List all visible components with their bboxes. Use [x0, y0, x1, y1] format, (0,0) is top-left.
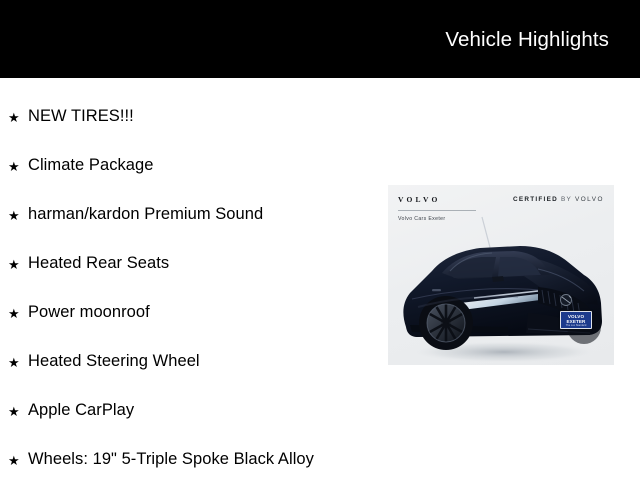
list-item-label: Power moonroof — [28, 303, 150, 323]
star-bullet-icon: ★ — [8, 110, 28, 124]
star-bullet-icon: ★ — [8, 159, 28, 173]
vehicle-photo-card[interactable]: VOLVO Volvo Cars Exeter CERTIFIED BY VOL… — [388, 185, 614, 365]
list-item-label: Heated Rear Seats — [28, 254, 169, 274]
list-item: ★ Apple CarPlay — [0, 386, 388, 435]
star-bullet-icon: ★ — [8, 355, 28, 369]
volvo-wordmark: VOLVO — [398, 195, 490, 204]
certified-brand-label: VOLVO — [575, 196, 604, 203]
list-item: ★ Heated Rear Seats — [0, 239, 388, 288]
door-handle — [432, 289, 441, 291]
certified-label: CERTIFIED — [513, 196, 558, 203]
list-item-label: NEW TIRES!!! — [28, 107, 134, 127]
plate-line-3: The Lux Standard — [566, 324, 587, 327]
list-item-label: Wheels: 19" 5-Triple Spoke Black Alloy — [28, 450, 314, 470]
vehicle-image — [388, 215, 614, 365]
vehicle-highlights-list: ★ NEW TIRES!!! ★ Climate Package ★ harma… — [0, 78, 388, 484]
certified-by-volvo-badge: CERTIFIED BY VOLVO — [513, 196, 604, 203]
list-item: ★ NEW TIRES!!! — [0, 92, 388, 141]
list-item: ★ harman/kardon Premium Sound — [0, 190, 388, 239]
list-item: ★ Heated Steering Wheel — [0, 337, 388, 386]
license-plate: VOLVO EXETER The Lux Standard — [560, 311, 592, 329]
brandmark-divider — [398, 210, 476, 211]
list-item-label: harman/kardon Premium Sound — [28, 205, 263, 225]
page-title: Vehicle Highlights — [445, 28, 609, 52]
list-item-label: Climate Package — [28, 156, 153, 176]
list-item-label: Apple CarPlay — [28, 401, 134, 421]
list-item: ★ Power moonroof — [0, 288, 388, 337]
star-bullet-icon: ★ — [8, 306, 28, 320]
car-illustration-svg — [388, 215, 614, 365]
side-mirror — [492, 276, 504, 282]
list-item: ★ Wheels: 19" 5-Triple Spoke Black Alloy — [0, 435, 388, 484]
star-bullet-icon: ★ — [8, 404, 28, 418]
star-bullet-icon: ★ — [8, 257, 28, 271]
certified-by-label: BY — [561, 196, 572, 203]
list-item: ★ Climate Package — [0, 141, 388, 190]
list-item-label: Heated Steering Wheel — [28, 352, 200, 372]
header-bar: Vehicle Highlights — [0, 0, 640, 78]
star-bullet-icon: ★ — [8, 208, 28, 222]
star-bullet-icon: ★ — [8, 453, 28, 467]
